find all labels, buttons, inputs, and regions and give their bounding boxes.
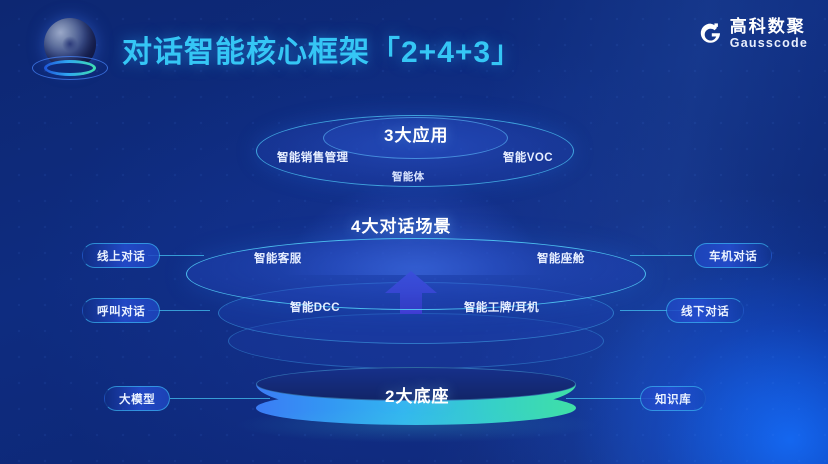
applications-heading: 3大应用 (384, 121, 448, 146)
sphere-orb-icon (30, 16, 108, 94)
side-label-large-model[interactable]: 大模型 (104, 386, 170, 411)
brand-name-en: Gausscode (730, 37, 808, 50)
side-label-knowledge-base[interactable]: 知识库 (640, 386, 706, 411)
connector-line-right-top (630, 255, 692, 256)
connector-line-left-bottom (170, 398, 270, 399)
brand-logo: 高科数聚 Gausscode (699, 18, 808, 50)
side-label-text: 大模型 (119, 391, 155, 407)
orb-inner-ring-icon (44, 60, 96, 76)
slide-canvas: 对话智能核心框架「2+4+3」 高科数聚 Gausscode 3大 (0, 0, 828, 464)
side-label-text: 车机对话 (709, 248, 757, 264)
application-item-sales: 智能销售管理 (277, 149, 348, 165)
scenario-item-badge: 智能工牌/耳机 (464, 299, 539, 315)
scenario-ring-main (186, 238, 646, 310)
side-label-online-dialogue[interactable]: 线上对话 (82, 243, 160, 268)
side-label-offline-dialogue[interactable]: 线下对话 (666, 298, 744, 323)
side-label-text: 知识库 (655, 391, 691, 407)
scenarios-heading: 4大对话场景 (351, 212, 451, 237)
scenario-item-dcc: 智能DCC (290, 299, 340, 315)
side-label-text: 线上对话 (97, 248, 145, 264)
side-label-vehicle-dialogue[interactable]: 车机对话 (694, 243, 772, 268)
foundation-heading: 2大底座 (385, 382, 449, 407)
scenario-item-cockpit: 智能座舱 (537, 250, 585, 266)
scenario-item-service: 智能客服 (254, 250, 302, 266)
side-label-call-dialogue[interactable]: 呼叫对话 (82, 298, 160, 323)
page-title: 对话智能核心框架「2+4+3」 (122, 27, 522, 71)
agent-label: 智能体 (392, 169, 424, 184)
application-item-voc: 智能VOC (503, 149, 553, 165)
side-label-text: 呼叫对话 (97, 303, 145, 319)
framework-diagram: 3大应用 智能销售管理 智能VOC 智能体 4大对话场景 智能客服 智能座舱 智… (0, 95, 828, 464)
gausscode-mark-icon (699, 22, 723, 46)
brand-name-cn: 高科数聚 (730, 18, 808, 35)
side-label-text: 线下对话 (681, 303, 729, 319)
cylinder-glow (232, 407, 600, 443)
slide-header: 对话智能核心框架「2+4+3」 高科数聚 Gausscode (0, 0, 828, 95)
